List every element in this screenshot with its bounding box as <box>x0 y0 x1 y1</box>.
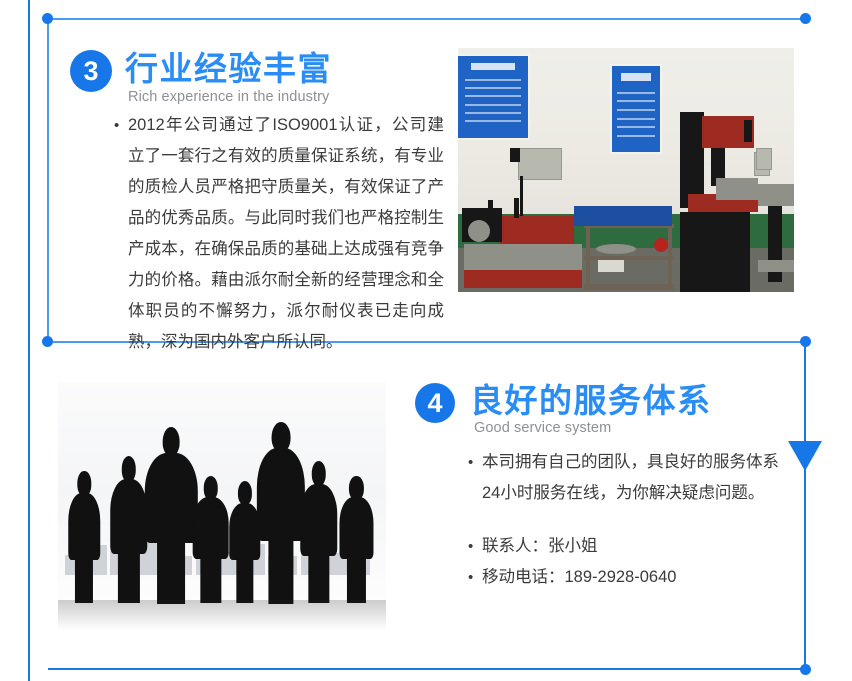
section4-right-border <box>804 342 806 670</box>
section3-corner-dot-topleft <box>42 13 53 24</box>
section3-corner-dot-bottomleft <box>42 336 53 347</box>
section3-title-zh: 行业经验丰富 <box>125 52 332 85</box>
section4-team-silhouette-photo <box>58 382 386 630</box>
section3-title-en: Rich experience in the industry <box>128 90 329 105</box>
down-arrow-marker-icon <box>788 441 822 471</box>
section3-corner-dot-topright <box>800 13 811 24</box>
poster-left-icon <box>458 54 530 140</box>
poster-center-icon <box>610 64 662 154</box>
section4-contact-person: 联系人：张小姐 <box>466 531 786 562</box>
section3-body: 2012年公司通过了ISO9001认证，公司建立了一套行之有效的质量保证系统，有… <box>112 110 444 358</box>
section4-bottom-border <box>48 668 805 670</box>
section4-number-badge: 4 <box>415 383 455 423</box>
section3-body-paragraph: 2012年公司通过了ISO9001认证，公司建立了一套行之有效的质量保证系统，有… <box>112 110 444 358</box>
section4-contact-phone: 移动电话：189-2928-0640 <box>466 562 786 593</box>
section4-title-zh: 良好的服务体系 <box>470 384 712 417</box>
section4-title-en: Good service system <box>474 421 611 436</box>
section3-number-badge: 3 <box>70 50 112 92</box>
section4-body-paragraph: 本司拥有自己的团队，具良好的服务体系24小时服务在线，为你解决疑虑问题。 <box>466 447 786 509</box>
section3-top-border <box>52 18 805 20</box>
section4-spacer <box>466 509 786 531</box>
section4-corner-dot-topright <box>800 336 811 347</box>
section3-factory-photo <box>458 48 794 292</box>
section3-left-border <box>47 20 49 342</box>
page-left-rail <box>28 0 30 681</box>
section4-corner-dot-bottomright <box>800 664 811 675</box>
section4-body: 本司拥有自己的团队，具良好的服务体系24小时服务在线，为你解决疑虑问题。 联系人… <box>466 447 786 593</box>
